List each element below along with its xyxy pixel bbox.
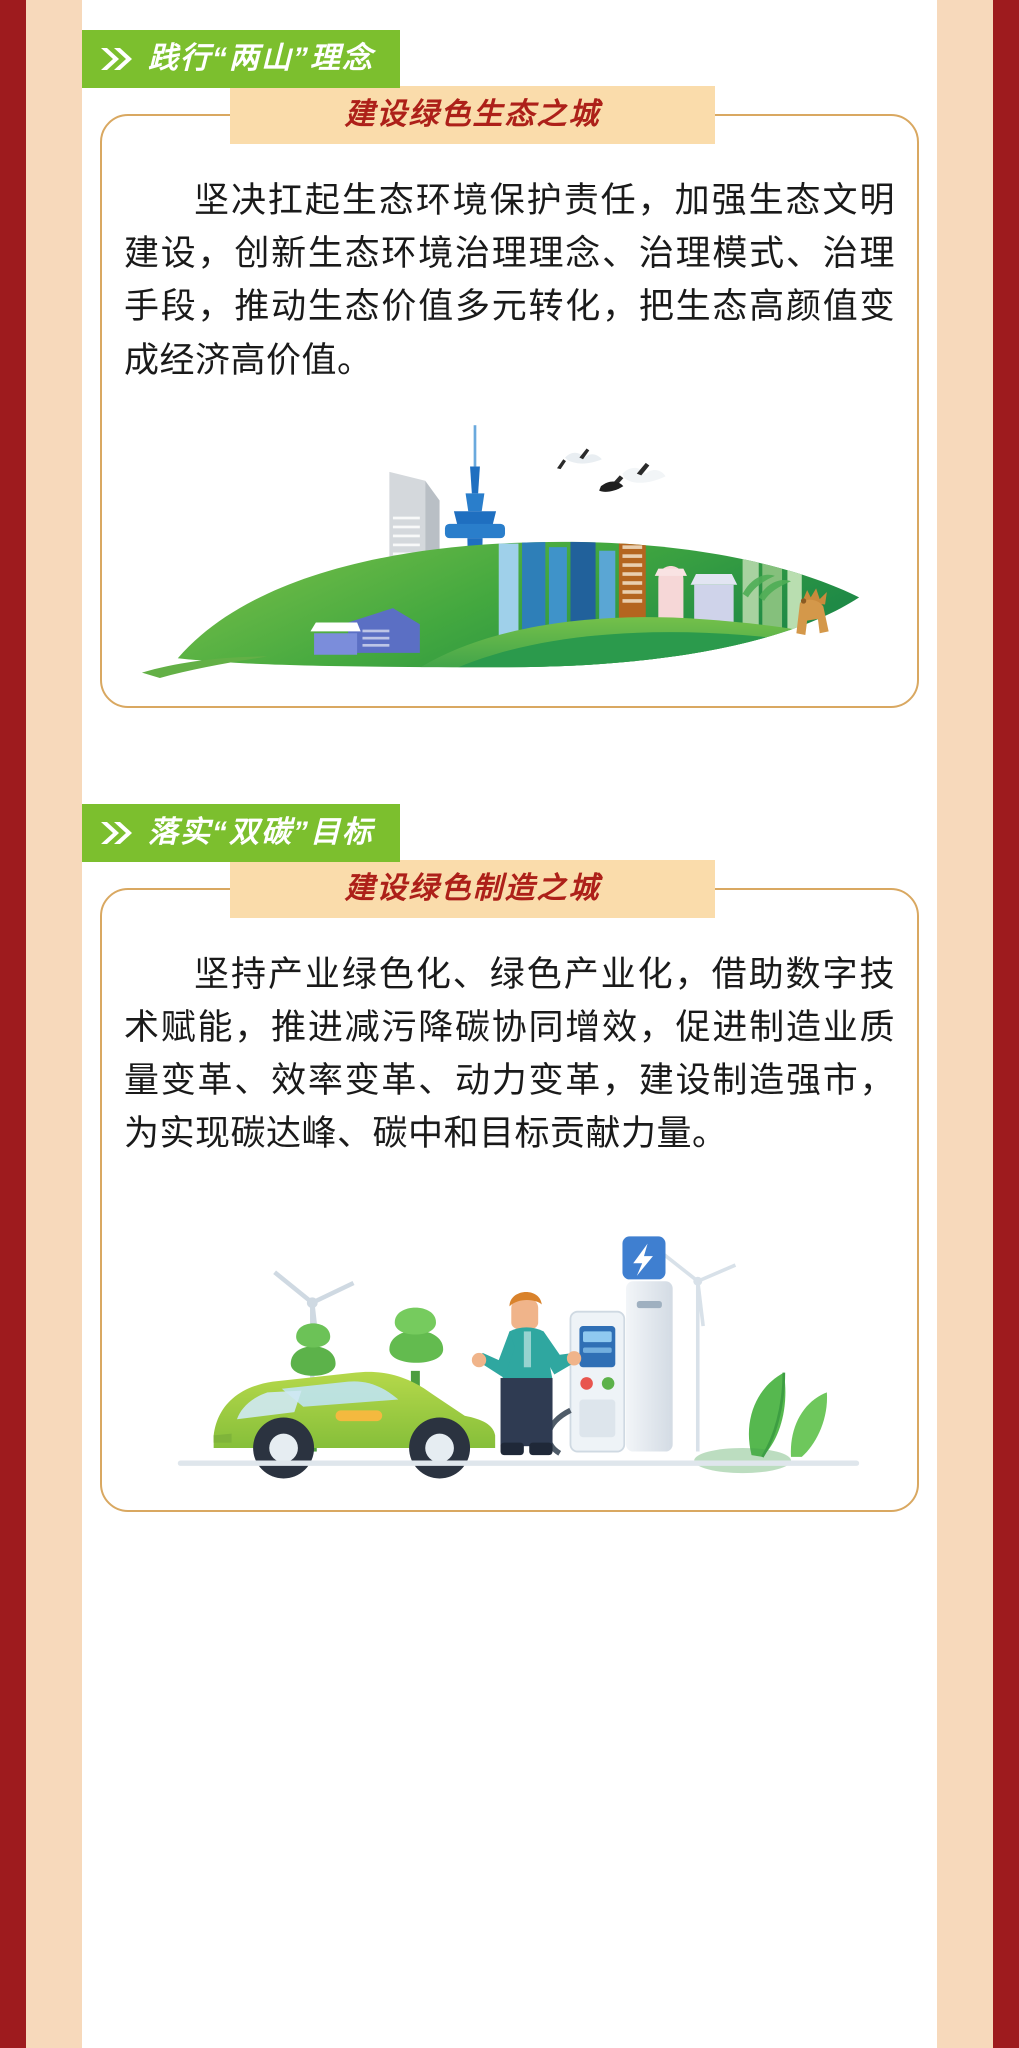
section-tag-label-2: 落实“双碳”目标: [148, 818, 374, 848]
ground-line: [178, 1460, 859, 1465]
ev-charging-station-illustration: [124, 1161, 895, 1496]
section-body-text-2: 坚持产业绿色化、绿色产业化，借助数字技术赋能，推进减污降碳协同增效，促进制造业质…: [124, 948, 895, 1161]
section-title-bar-1: 建设绿色生态之城: [230, 86, 715, 144]
inner-peach-frame: 践行“两山”理念 建设绿色生态之城 坚决扛起生态环境保护责任，加强生态文明建设，…: [26, 0, 993, 2048]
section-title-1: 建设绿色生态之城: [345, 100, 601, 130]
section-body-box-2: 坚持产业绿色化、绿色产业化，借助数字技术赋能，推进减污降碳协同增效，促进制造业质…: [100, 888, 919, 1512]
outer-red-frame: 践行“两山”理念 建设绿色生态之城 坚决扛起生态环境保护责任，加强生态文明建设，…: [0, 0, 1019, 2048]
turbine-hub: [693, 1276, 702, 1285]
poster-page: 践行“两山”理念 建设绿色生态之城 坚决扛起生态环境保护责任，加强生态文明建设，…: [82, 0, 937, 2048]
turbine-hub: [307, 1297, 318, 1308]
section-card-1: 践行“两山”理念 建设绿色生态之城 坚决扛起生态环境保护责任，加强生态文明建设，…: [82, 30, 937, 708]
section-card-2: 落实“双碳”目标 建设绿色制造之城 坚持产业绿色化、绿色产业化，借助数字技术赋能…: [82, 804, 937, 1512]
flying-cranes: [557, 448, 665, 491]
green-leaf-city-skyline-illustration: [124, 387, 895, 692]
bottom-spacer: [82, 1512, 937, 1572]
section-title-2: 建设绿色制造之城: [345, 874, 601, 904]
section-body-box-1: 坚决扛起生态环境保护责任，加强生态文明建设，创新生态环境治理理念、治理模式、治理…: [100, 114, 919, 708]
section-title-bar-2: 建设绿色制造之城: [230, 860, 715, 918]
section-tag-1[interactable]: 践行“两山”理念: [82, 30, 400, 88]
section-spacer: [82, 708, 937, 804]
section-tag-label-1: 践行“两山”理念: [148, 44, 374, 74]
double-chevron-right-icon: [100, 820, 134, 846]
charging-pile: [570, 1236, 672, 1451]
double-chevron-right-icon: [100, 46, 134, 72]
plant-leaves: [694, 1372, 827, 1472]
section-body-text-1: 坚决扛起生态环境保护责任，加强生态文明建设，创新生态环境治理理念、治理模式、治理…: [124, 174, 895, 387]
section-tag-2[interactable]: 落实“双碳”目标: [82, 804, 400, 862]
top-spacer: [82, 0, 937, 30]
